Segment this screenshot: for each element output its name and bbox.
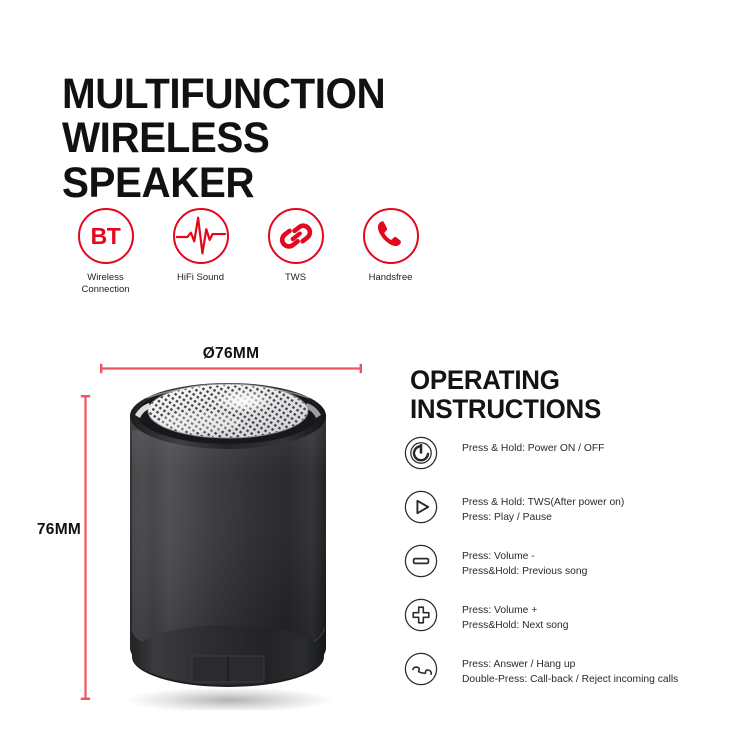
badge-circle — [363, 208, 419, 264]
plus-icon — [404, 598, 438, 632]
instruction-line-2: Press: Play / Pause — [462, 511, 624, 526]
power-icon — [404, 436, 438, 470]
instruction-row-power: Press & Hold: Power ON / OFF — [404, 434, 740, 488]
instruction-line-1: Press: Volume + — [462, 604, 568, 619]
page-title-line-2: WIRELESS — [62, 116, 476, 160]
instruction-text: Press & Hold: TWS(After power on) Press:… — [451, 488, 624, 526]
bt-text-icon: BT — [91, 225, 121, 248]
feature-badge-label: Wireless Connection — [81, 272, 129, 295]
page-title-line-1: MULTIFUNCTION — [62, 72, 476, 116]
op-icon-slot — [404, 434, 451, 475]
feature-badge-row: BT Wireless Connection HiFi Sound — [58, 208, 438, 295]
hangup-phone-icon — [404, 652, 438, 686]
operating-instructions-heading: OPERATING INSTRUCTIONS — [410, 366, 698, 424]
instruction-line-1: Press: Answer / Hang up — [462, 658, 678, 673]
feature-label-line-1: HiFi Sound — [177, 272, 224, 283]
feature-label-line-1: Handsfree — [369, 272, 413, 283]
feature-label-line-1: TWS — [285, 272, 306, 283]
minus-icon — [404, 544, 438, 578]
instruction-line-2: Double-Press: Call-back / Reject incomin… — [462, 673, 678, 688]
instruction-line-2: Press&Hold: Previous song — [462, 565, 587, 580]
badge-circle — [268, 208, 324, 264]
product-shadow — [126, 687, 334, 710]
op-icon-slot — [404, 596, 451, 637]
badge-circle — [173, 208, 229, 264]
ops-heading-line-1: OPERATING — [410, 366, 698, 395]
feature-label-line-1: Wireless — [87, 272, 123, 283]
feature-badge-wireless-connection: BT Wireless Connection — [58, 208, 153, 295]
badge-circle: BT — [78, 208, 134, 264]
product-image-speaker — [88, 370, 368, 710]
instruction-text: Press: Volume + Press&Hold: Next song — [451, 596, 568, 634]
instruction-row-call: Press: Answer / Hang up Double-Press: Ca… — [404, 650, 740, 704]
feature-badge-label: Handsfree — [369, 272, 413, 284]
chain-link-icon — [276, 216, 316, 256]
instruction-row-volume-down: Press: Volume - Press&Hold: Previous son… — [404, 542, 740, 596]
instruction-line-2: Press&Hold: Next song — [462, 619, 568, 634]
instruction-row-play: Press & Hold: TWS(After power on) Press:… — [404, 488, 740, 542]
speaker-port — [192, 656, 264, 682]
instruction-row-volume-up: Press: Volume + Press&Hold: Next song — [404, 596, 740, 650]
width-dimension-label: Ø76MM — [100, 345, 362, 363]
waveform-icon — [175, 209, 227, 263]
speaker-top-grille — [130, 383, 326, 449]
feature-badge-handsfree: Handsfree — [343, 208, 438, 284]
feature-badge-tws: TWS — [248, 208, 343, 284]
operating-instructions-list: Press & Hold: Power ON / OFF Press & Hol… — [404, 434, 740, 704]
instruction-text: Press & Hold: Power ON / OFF — [451, 434, 604, 457]
instruction-text: Press: Answer / Hang up Double-Press: Ca… — [451, 650, 678, 688]
instruction-line-1: Press: Volume - — [462, 550, 587, 565]
instruction-text: Press: Volume - Press&Hold: Previous son… — [451, 542, 587, 580]
op-icon-slot — [404, 542, 451, 583]
page-title-line-3: SPEAKER — [62, 161, 476, 205]
ops-heading-line-2: INSTRUCTIONS — [410, 395, 698, 424]
phone-handset-icon — [373, 218, 409, 254]
feature-badge-label: HiFi Sound — [177, 272, 224, 284]
instruction-line-1: Press & Hold: TWS(After power on) — [462, 496, 624, 511]
op-icon-slot — [404, 650, 451, 691]
instruction-line-1: Press & Hold: Power ON / OFF — [462, 442, 604, 457]
op-icon-slot — [404, 488, 451, 529]
feature-badge-hifi-sound: HiFi Sound — [153, 208, 248, 284]
play-icon — [404, 490, 438, 524]
feature-label-line-2: Connection — [81, 284, 129, 295]
feature-badge-label: TWS — [285, 272, 306, 284]
page-title: MULTIFUNCTION WIRELESS SPEAKER — [62, 72, 476, 205]
speaker-base — [132, 625, 324, 687]
